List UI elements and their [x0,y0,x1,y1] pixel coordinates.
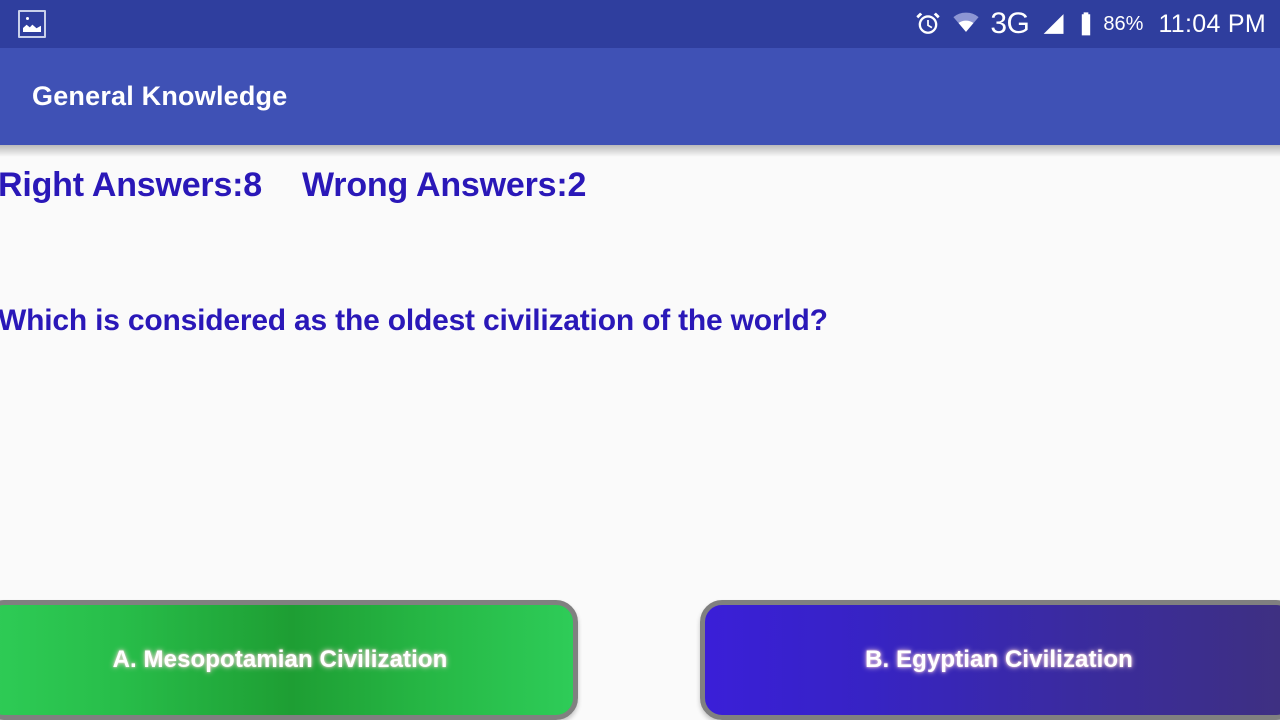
clock-label: 11:04 PM [1158,10,1266,39]
score-row: Right Answers:8 Wrong Answers:2 [0,166,586,205]
quiz-content: Right Answers:8 Wrong Answers:2 Which is… [0,145,1280,720]
wifi-icon [951,8,981,41]
battery-percent-label: 86% [1103,13,1143,36]
signal-bars-icon [1038,10,1068,38]
picture-icon [18,10,46,38]
alarm-clock-icon [914,10,942,38]
app-bar-shadow [0,145,1280,157]
network-type-label: 3G [990,9,1029,39]
app-title: General Knowledge [32,81,287,112]
app-screen: 3G 86% 11:04 PM General Knowledge Right … [0,0,1280,720]
answer-option-a[interactable]: A. Mesopotamian Civilization [0,600,578,720]
battery-icon [1077,10,1095,38]
status-bar-indicators: 3G 86% 11:04 PM [914,8,1266,41]
app-bar: General Knowledge [0,48,1280,145]
question-text: Which is considered as the oldest civili… [0,304,828,338]
status-bar-notifications [18,10,914,38]
status-bar: 3G 86% 11:04 PM [0,0,1280,48]
answer-option-b[interactable]: B. Egyptian Civilization [700,600,1280,720]
wrong-answers-label: Wrong Answers:2 [302,166,586,205]
right-answers-label: Right Answers:8 [0,166,262,205]
